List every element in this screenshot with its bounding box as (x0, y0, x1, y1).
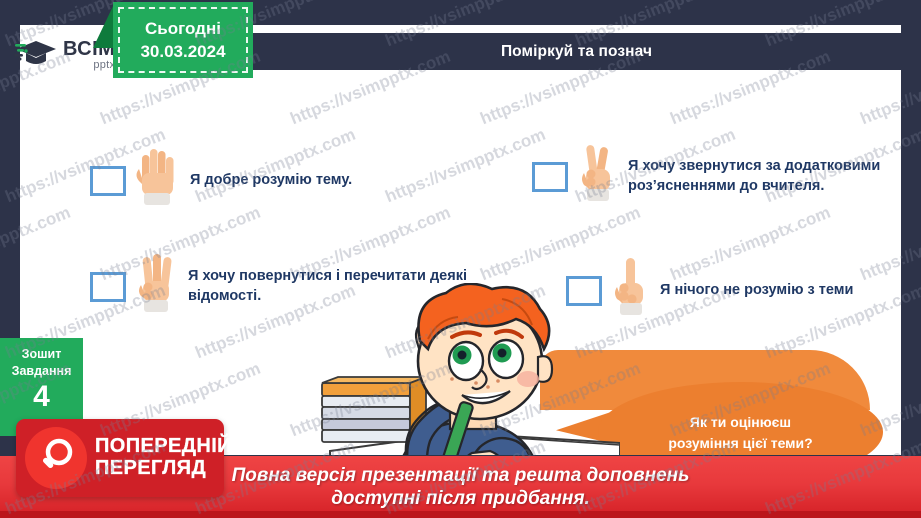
magnifier-icon (25, 427, 87, 489)
checkbox-2[interactable] (532, 162, 568, 192)
checkbox-3[interactable] (90, 272, 126, 302)
boy-illustration (320, 283, 620, 455)
header-bar: Поміркуй та познач (252, 33, 901, 70)
bottom-banner-strip (0, 511, 921, 518)
checkbox-1[interactable] (90, 166, 126, 196)
preview-badge-line-2: ПЕРЕГЛЯД (95, 458, 232, 480)
date-badge-label: Сьогодні (145, 19, 221, 39)
speech-bubble-line-2: розуміння цієї теми? (668, 435, 812, 451)
bottom-banner-line-2: доступні після придбання. (331, 488, 590, 510)
hand-three-fingers-icon (134, 253, 178, 320)
preview-badge[interactable]: ПОПЕРЕДНІЙ ПЕРЕГЛЯД (16, 419, 224, 497)
bottom-banner-line-1: Повна версія презентації та решта доповн… (232, 465, 690, 487)
notebook-tag-line-2: Завдання (0, 363, 83, 380)
date-badge: Сьогодні 30.03.2024 (113, 2, 253, 78)
checklist-label-4: Я нічого не розумію з теми (660, 281, 853, 301)
preview-badge-line-1: ПОПЕРЕДНІЙ (95, 436, 232, 458)
preview-badge-text: ПОПЕРЕДНІЙ ПЕРЕГЛЯД (95, 436, 232, 479)
checklist-item-2[interactable]: Я хочу звернутися за додатковими роз’ясн… (532, 143, 901, 210)
notebook-tag-number: 4 (0, 382, 83, 412)
notebook-tag-line-1: Зошит (0, 346, 83, 363)
logo-subtitle: pptx (63, 60, 115, 71)
checklist-item-1[interactable]: Я добре розумію тему. (90, 147, 420, 214)
hand-open-five-fingers-icon (134, 147, 180, 214)
graduation-cap-icon (14, 37, 58, 74)
page-title: Поміркуй та познач (501, 43, 652, 61)
date-badge-date: 30.03.2024 (140, 42, 225, 62)
hand-two-fingers-peace-icon (576, 143, 618, 210)
slide-canvas: Я добре розумію тему. Я хочу звернутися … (20, 25, 901, 455)
checklist-label-2: Я хочу звернутися за додатковими роз’ясн… (628, 157, 901, 196)
checklist-label-1: Я добре розумію тему. (190, 171, 352, 191)
speech-bubble-line-1: Як ти оцінюєш (690, 414, 791, 430)
